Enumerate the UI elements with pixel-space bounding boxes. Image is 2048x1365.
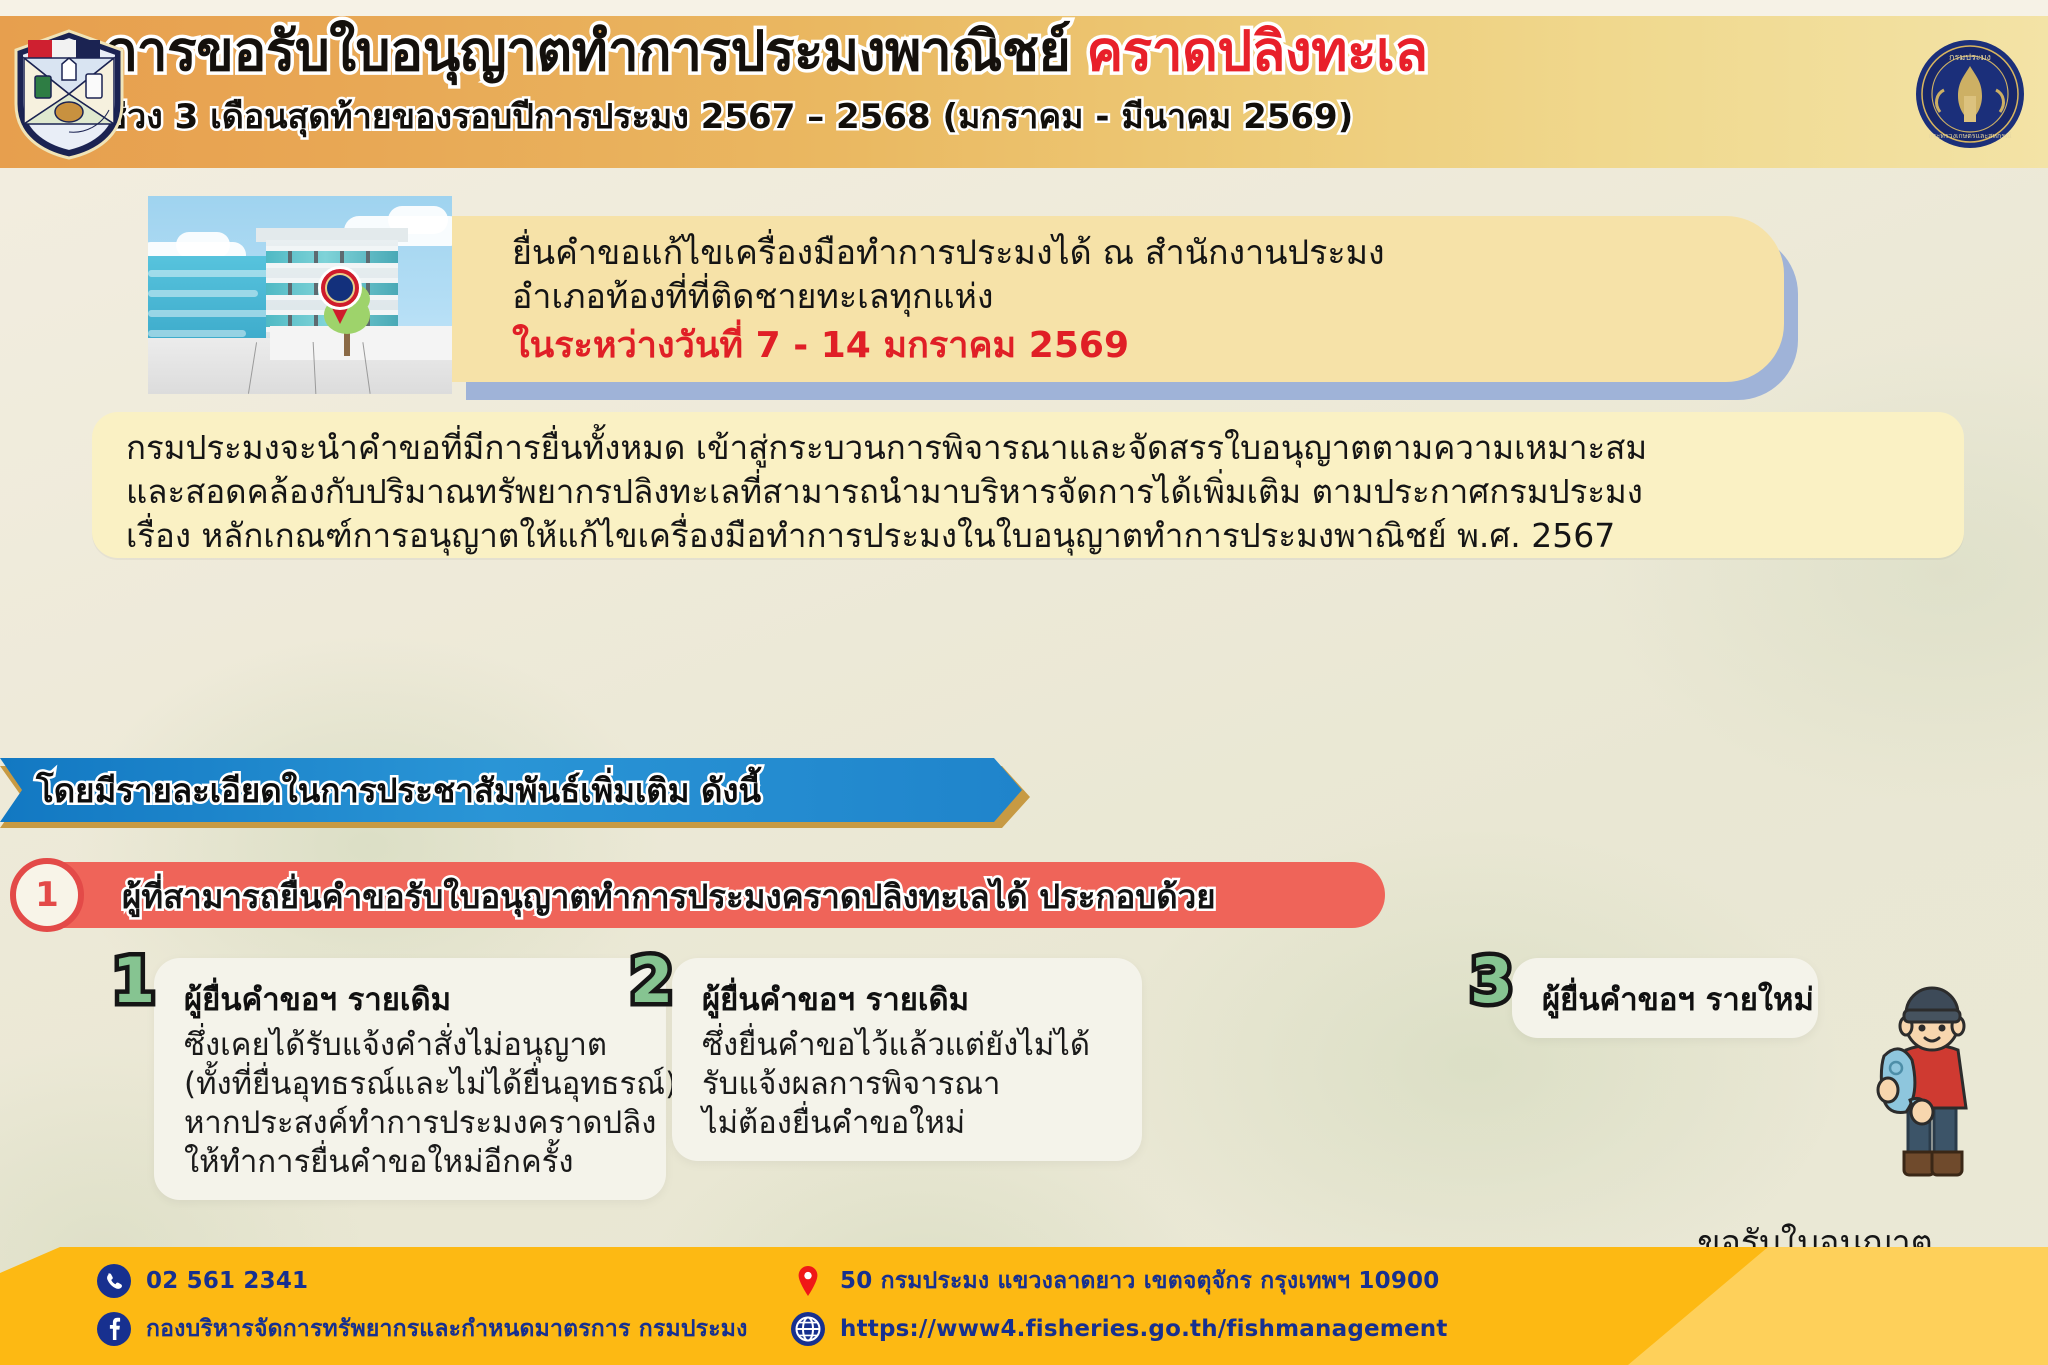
- infographic-page: การขอรับใบอนุญาตทำการประมงพาณิชย์คราดปลิ…: [0, 0, 2048, 1365]
- header-banner: การขอรับใบอนุญาตทำการประมงพาณิชย์คราดปลิ…: [0, 16, 2048, 168]
- section-1-text: ผู้ที่สามารถยื่นคำขอรับใบอนุญาตทำการประม…: [122, 870, 1216, 923]
- paragraph-line-2: และสอดคล้องกับปริมาณทรัพยากรปลิงทะเลที่ส…: [126, 470, 1930, 514]
- footer-phone-row: 02 561 2341: [96, 1263, 308, 1299]
- section-1-number-badge: 1: [10, 858, 84, 932]
- footer-contact-bar: 02 561 2341 กองบริหารจัดการทรัพยากรและกำ…: [0, 1247, 2048, 1365]
- footer-website-row[interactable]: https://www4.fisheries.go.th/fishmanagem…: [790, 1311, 1448, 1347]
- callout1-date-range: ในระหว่างวันที่ 7 - 14 มกราคม 2569: [512, 323, 1744, 369]
- facebook-icon: [96, 1311, 132, 1347]
- card-1-line-1: ซึ่งเคยได้รับแจ้งคำสั่งไม่อนุญาต: [184, 1026, 640, 1065]
- fisheries-office-illustration: [148, 196, 452, 394]
- card-1-line-3: หากประสงค์ทำการประมงคราดปลิง: [184, 1104, 640, 1143]
- footer-website-text[interactable]: https://www4.fisheries.go.th/fishmanagem…: [840, 1316, 1448, 1342]
- footer-facebook-row[interactable]: กองบริหารจัดการทรัพยากรและกำหนดมาตรการ ก…: [96, 1311, 748, 1347]
- card-2-heading: ผู้ยื่นคำขอฯ รายเดิม: [702, 974, 1116, 1024]
- svg-text:กระทรวงเกษตรและสหกรณ์: กระทรวงเกษตรและสหกรณ์: [1929, 132, 2012, 140]
- card-2-line-1: ซึ่งยื่นคำขอไว้แล้วแต่ยังไม่ได้: [702, 1026, 1116, 1065]
- department-of-fisheries-seal: กรมประมง กระทรวงเกษตรและสหกรณ์: [1914, 38, 2026, 150]
- page-title-main: การขอรับใบอนุญาตทำการประมงพาณิชย์: [104, 19, 1070, 83]
- phone-icon: [96, 1263, 132, 1299]
- footer-address-text: 50 กรมประมง แขวงลาดยาว เขตจตุจักร กรุงเท…: [840, 1263, 1439, 1299]
- fisheries-shield-emblem: [10, 28, 128, 160]
- fisherman-holding-fish: [1862, 972, 2002, 1192]
- card-2-number: 2: [630, 950, 673, 1012]
- paragraph-line-1: กรมประมงจะนำคำขอที่มีการยื่นทั้งหมด เข้า…: [126, 426, 1930, 470]
- card-1-line-2: (ทั้งที่ยื่นอุทธรณ์และไม่ได้ยื่นอุทธรณ์): [184, 1065, 640, 1104]
- card-1-line-4: ให้ทำการยื่นคำขอใหม่อีกครั้ง: [184, 1143, 640, 1182]
- card-2-line-2: รับแจ้งผลการพิจารณา: [702, 1065, 1116, 1104]
- paragraph-line-3: เรื่อง หลักเกณฑ์การอนุญาตให้แก้ไขเครื่อง…: [126, 514, 1930, 558]
- header-title-group: การขอรับใบอนุญาตทำการประมงพาณิชย์คราดปลิ…: [104, 22, 1894, 143]
- page-subtitle: ช่วง 3 เดือนสุดท้ายของรอบปีการประมง 2567…: [104, 89, 1894, 143]
- page-title-highlight: คราดปลิงทะเล: [1086, 19, 1427, 83]
- globe-icon: [790, 1311, 826, 1347]
- card-3-heading: ผู้ยื่นคำขอฯ รายใหม่: [1542, 974, 1792, 1024]
- card-1-number: 1: [112, 950, 155, 1012]
- blue-banner-text: โดยมีรายละเอียดในการประชาสัมพันธ์เพิ่มเต…: [36, 764, 761, 817]
- callout-box-where-to-apply: ยื่นคำขอแก้ไขเครื่องมือทำการประมงได้ ณ ส…: [452, 216, 1798, 392]
- blue-ribbon-banner: โดยมีรายละเอียดในการประชาสัมพันธ์เพิ่มเต…: [0, 758, 1040, 828]
- section-1-header: 1 ผู้ที่สามารถยื่นคำขอรับใบอนุญาตทำการปร…: [0, 862, 1420, 932]
- section-1-number: 1: [35, 875, 59, 915]
- paragraph-box: กรมประมงจะนำคำขอที่มีการยื่นทั้งหมด เข้า…: [92, 412, 1964, 558]
- footer-facebook-text[interactable]: กองบริหารจัดการทรัพยากรและกำหนดมาตรการ ก…: [146, 1311, 748, 1347]
- header-top-stripe: [0, 0, 2048, 16]
- svg-text:กรมประมง: กรมประมง: [1949, 52, 1991, 62]
- footer-address-row: 50 กรมประมง แขวงลาดยาว เขตจตุจักร กรุงเท…: [790, 1263, 1439, 1299]
- callout1-line1: ยื่นคำขอแก้ไขเครื่องมือทำการประมงได้ ณ ส…: [512, 232, 1744, 276]
- footer-phone-text[interactable]: 02 561 2341: [146, 1268, 308, 1294]
- card-2-line-3: ไม่ต้องยื่นคำขอใหม่: [702, 1104, 1116, 1143]
- card-3-number: 3: [1470, 950, 1513, 1012]
- card-1-heading: ผู้ยื่นคำขอฯ รายเดิม: [184, 974, 640, 1024]
- map-pin-icon: [318, 266, 362, 324]
- callout1-line2: อำเภอท้องที่ที่ติดชายทะเลทุกแห่ง: [512, 276, 1744, 320]
- map-pin-icon: [790, 1263, 826, 1299]
